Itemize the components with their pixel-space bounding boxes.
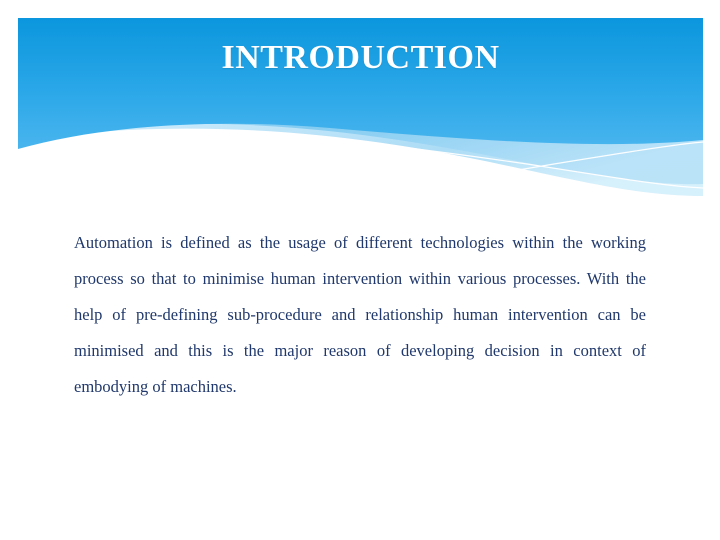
header-banner: [0, 0, 720, 210]
page-title: INTRODUCTION: [18, 38, 703, 78]
header-banner-graphic: [0, 0, 720, 210]
body-paragraph: Automation is defined as the usage of di…: [74, 225, 646, 405]
slide-canvas: INTRODUCTION Automation is defined as th…: [0, 0, 720, 540]
